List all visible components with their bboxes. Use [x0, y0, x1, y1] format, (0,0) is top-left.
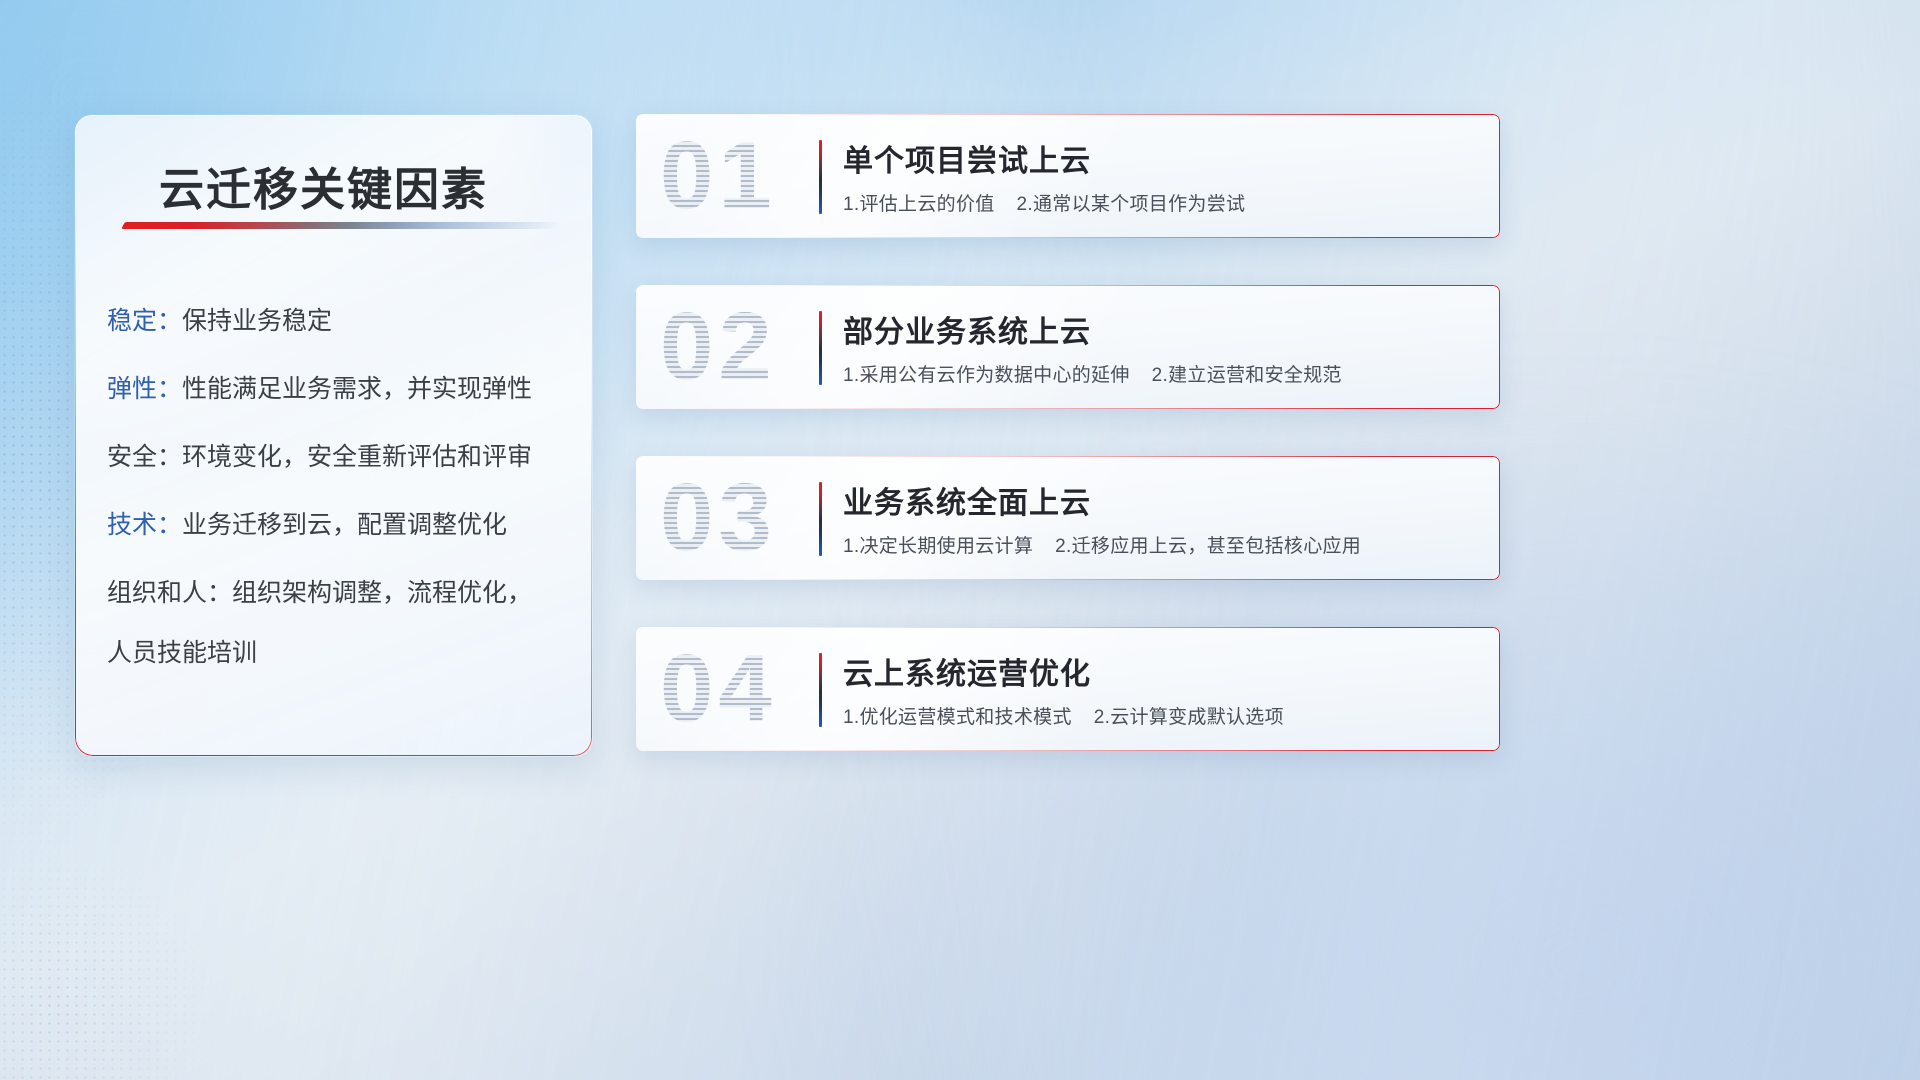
step-subtitle-part-1: 1.决定长期使用云计算	[843, 536, 1033, 557]
step-title: 业务系统全面上云	[843, 478, 1091, 522]
step-subtitle-part-1: 1.优化运营模式和技术模式	[843, 707, 1072, 728]
page-title: 云迁移关键因素	[159, 153, 488, 218]
step-title: 单个项目尝试上云	[843, 136, 1091, 180]
step-subtitle-part-1: 1.采用公有云作为数据中心的延伸	[843, 365, 1130, 386]
step-divider-bar	[819, 482, 822, 556]
step-subtitle: 1.决定长期使用云计算2.迁移应用上云，甚至包括核心应用	[843, 531, 1361, 558]
step-title: 云上系统运营优化	[843, 649, 1091, 693]
step-subtitle: 1.评估上云的价值2.通常以某个项目作为尝试	[843, 189, 1245, 216]
key-factors-list: 稳定：保持业务稳定 弹性：性能满足业务需求，并实现弹性 安全：环境变化，安全重新…	[107, 305, 572, 699]
step-subtitle-part-2: 2.云计算变成默认选项	[1094, 707, 1284, 728]
step-divider-bar	[819, 311, 822, 385]
step-number-watermark: 01	[660, 120, 777, 232]
step-subtitle-part-2: 2.迁移应用上云，甚至包括核心应用	[1055, 536, 1361, 557]
list-item: 安全：环境变化，安全重新评估和评审	[107, 441, 572, 473]
step-subtitle-part-2: 2.建立运营和安全规范	[1152, 365, 1342, 386]
step-subtitle: 1.采用公有云作为数据中心的延伸2.建立运营和安全规范	[843, 360, 1342, 387]
list-item-value: 保持业务稳定	[182, 307, 332, 335]
step-card-03[interactable]: 03 03 业务系统全面上云 1.决定长期使用云计算2.迁移应用上云，甚至包括核…	[636, 456, 1500, 580]
step-card-04[interactable]: 04 04 云上系统运营优化 1.优化运营模式和技术模式2.云计算变成默认选项	[636, 627, 1500, 751]
key-factors-panel: 云迁移关键因素 稳定：保持业务稳定 弹性：性能满足业务需求，并实现弹性 安全：环…	[74, 114, 593, 757]
step-number-watermark: 04	[660, 633, 777, 745]
step-number-watermark: 03	[660, 462, 777, 574]
step-number-watermark: 02	[660, 291, 777, 403]
list-item-label: 技术：	[107, 511, 182, 539]
step-card-02[interactable]: 02 02 部分业务系统上云 1.采用公有云作为数据中心的延伸2.建立运营和安全…	[636, 285, 1500, 409]
list-item: 组织和人：组织架构调整，流程优化， 人员技能培训	[107, 577, 572, 669]
list-item-label: 组织和人：	[107, 579, 232, 607]
title-gradient-rule	[121, 222, 565, 229]
step-subtitle: 1.优化运营模式和技术模式2.云计算变成默认选项	[843, 702, 1284, 729]
step-subtitle-part-2: 2.通常以某个项目作为尝试	[1017, 194, 1246, 215]
list-item-label: 稳定：	[107, 307, 182, 335]
list-item-value: 组织架构调整，流程优化，	[232, 579, 532, 607]
list-item: 技术：业务迁移到云，配置调整优化	[107, 509, 572, 541]
step-card-01[interactable]: 01 01 单个项目尝试上云 1.评估上云的价值2.通常以某个项目作为尝试	[636, 114, 1500, 238]
list-item-value: 环境变化，安全重新评估和评审	[182, 443, 532, 471]
step-divider-bar	[819, 653, 822, 727]
list-item-label: 安全：	[107, 443, 182, 471]
list-item-label: 弹性：	[107, 375, 182, 403]
slide-stage: 云迁移关键因素 稳定：保持业务稳定 弹性：性能满足业务需求，并实现弹性 安全：环…	[0, 0, 1920, 1080]
step-divider-bar	[819, 140, 822, 214]
list-item-value: 业务迁移到云，配置调整优化	[182, 511, 507, 539]
list-item-value-line2: 人员技能培训	[107, 637, 572, 669]
step-subtitle-part-1: 1.评估上云的价值	[843, 194, 995, 215]
step-title: 部分业务系统上云	[843, 307, 1091, 351]
list-item: 弹性：性能满足业务需求，并实现弹性	[107, 373, 572, 405]
list-item: 稳定：保持业务稳定	[107, 305, 572, 337]
list-item-value: 性能满足业务需求，并实现弹性	[182, 375, 532, 403]
